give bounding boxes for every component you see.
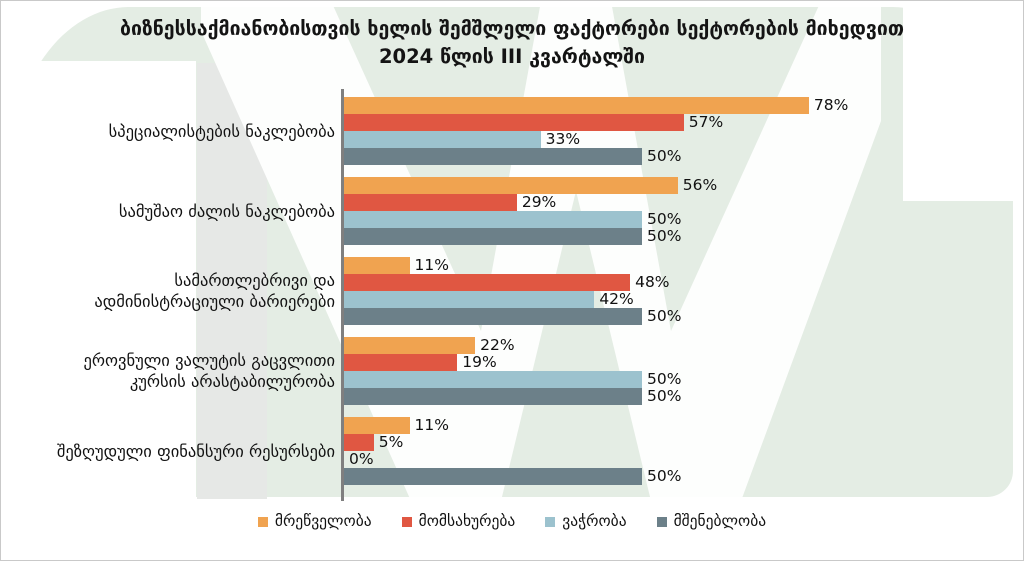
legend-label: მშენებლობა [674, 514, 767, 530]
legend-label: ვაჭრობა [562, 514, 626, 530]
bar-value-label: 57% [689, 114, 723, 131]
legend-swatch-icon [402, 517, 412, 527]
legend-label: მომსახურება [419, 514, 516, 530]
bar-4-3 [344, 371, 642, 388]
bar-value-label: 33% [546, 131, 580, 148]
category-label: სამართლებრივი და ადმინისტრაციული ბარიერე… [94, 270, 335, 312]
bar-value-label: 50% [647, 468, 681, 485]
bar-value-label: 50% [647, 388, 681, 405]
bar-1-1 [344, 97, 809, 114]
bar-2-1 [344, 177, 678, 194]
bar-4-1 [344, 337, 475, 354]
bar-value-label: 50% [647, 308, 681, 325]
bar-value-label: 50% [647, 211, 681, 228]
chart-canvas: ბიზნესსაქმიანობისთვის ხელის შემშლელი ფაქ… [0, 0, 1024, 561]
chart-legend: მრეწველობამომსახურებავაჭრობამშენებლობა [1, 514, 1023, 530]
legend-label: მრეწველობა [275, 514, 372, 530]
bar-value-label: 11% [415, 257, 449, 274]
bar-5-1 [344, 417, 410, 434]
bar-3-4 [344, 308, 642, 325]
bar-value-label: 78% [814, 97, 848, 114]
bar-5-2 [344, 434, 374, 451]
bar-value-label: 0% [349, 451, 374, 468]
bar-4-4 [344, 388, 642, 405]
bar-3-2 [344, 274, 630, 291]
category-label: სამუშაო ძალის ნაკლებობა [119, 201, 335, 222]
bar-2-3 [344, 211, 642, 228]
category-label: ეროვნული ვალუტის გაცვლითი კურსის არასტაბ… [84, 350, 335, 392]
plot-area: 78%57%33%50%56%29%50%50%11%48%42%50%22%1… [1, 1, 1024, 561]
bar-1-4 [344, 148, 642, 165]
category-label: სპეციალისტების ნაკლებობა [109, 121, 335, 142]
bar-2-2 [344, 194, 517, 211]
bar-value-label: 48% [635, 274, 669, 291]
bar-value-label: 56% [683, 177, 717, 194]
bar-value-label: 5% [379, 434, 404, 451]
bar-1-2 [344, 114, 684, 131]
bar-value-label: 19% [462, 354, 496, 371]
legend-item-4[interactable]: მშენებლობა [657, 514, 767, 530]
bar-2-4 [344, 228, 642, 245]
bar-value-label: 42% [599, 291, 633, 308]
bar-value-label: 50% [647, 228, 681, 245]
category-label: შეზღუდული ფინანსური რესურსები [57, 441, 335, 462]
bar-3-1 [344, 257, 410, 274]
bar-3-3 [344, 291, 594, 308]
bar-value-label: 22% [480, 337, 514, 354]
legend-item-2[interactable]: მომსახურება [402, 514, 516, 530]
bar-value-label: 50% [647, 148, 681, 165]
bar-5-4 [344, 468, 642, 485]
bar-value-label: 50% [647, 371, 681, 388]
legend-swatch-icon [657, 517, 667, 527]
bar-1-3 [344, 131, 541, 148]
legend-item-3[interactable]: ვაჭრობა [545, 514, 626, 530]
legend-swatch-icon [258, 517, 268, 527]
bar-4-2 [344, 354, 457, 371]
legend-swatch-icon [545, 517, 555, 527]
legend-item-1[interactable]: მრეწველობა [258, 514, 372, 530]
bar-value-label: 11% [415, 417, 449, 434]
bar-value-label: 29% [522, 194, 556, 211]
